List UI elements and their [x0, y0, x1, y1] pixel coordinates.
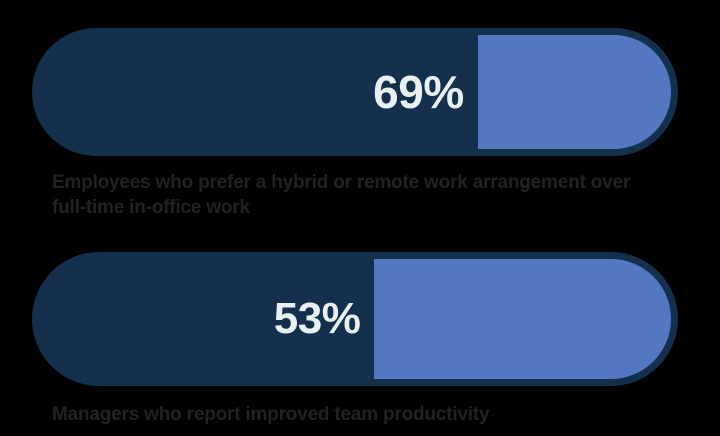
bar-value-label-2: 53%	[32, 252, 374, 386]
bar-fill-1	[478, 35, 671, 149]
bar-track-2: 53%	[32, 252, 678, 386]
bar-fill-2	[374, 259, 671, 379]
progress-bar-chart: 69% Employees who prefer a hybrid or rem…	[0, 0, 720, 436]
bar-value-label-1: 69%	[32, 28, 478, 156]
bar-caption-1: Employees who prefer a hybrid or remote …	[52, 170, 652, 220]
bar-track-1: 69%	[32, 28, 678, 156]
bar-caption-2: Managers who report improved team produc…	[52, 402, 652, 427]
bar-group-1: 69% Employees who prefer a hybrid or rem…	[32, 28, 678, 220]
bar-group-2: 53% Managers who report improved team pr…	[32, 252, 678, 427]
